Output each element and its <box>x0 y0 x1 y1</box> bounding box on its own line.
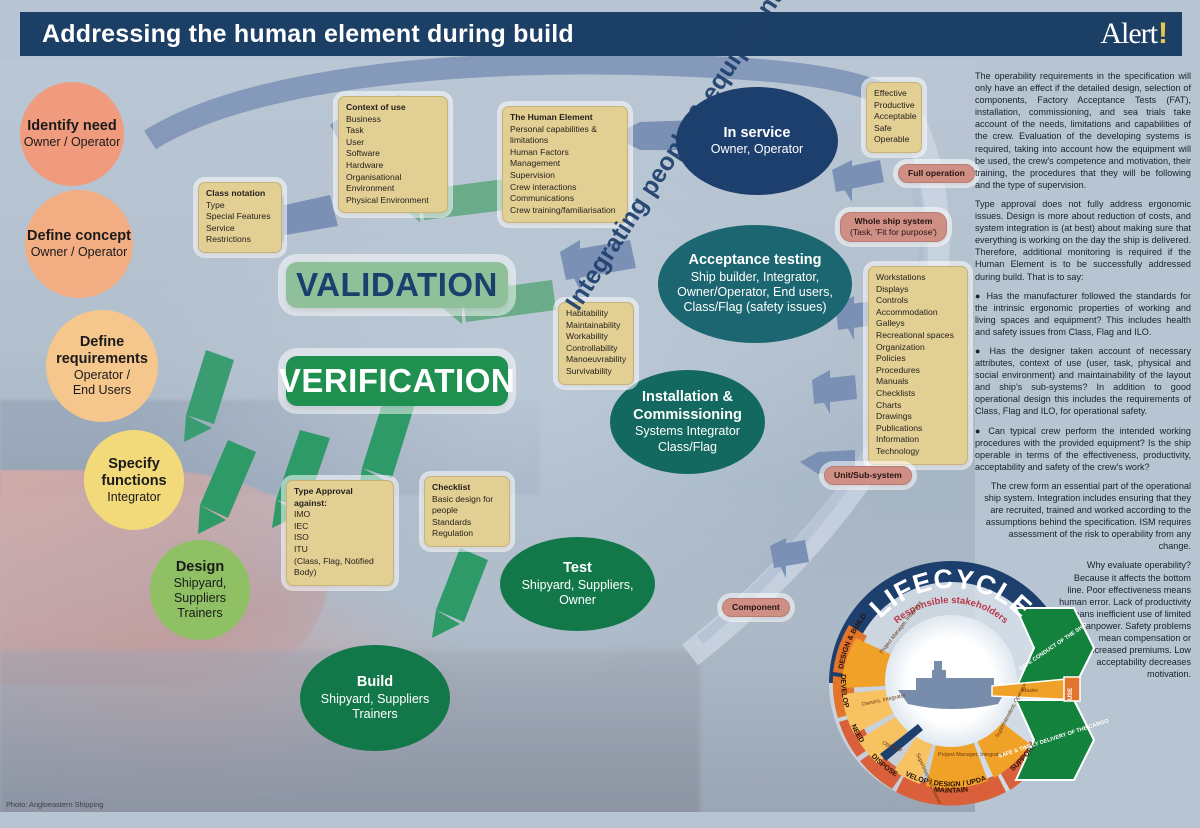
card-item: IEC <box>294 521 308 531</box>
outcome-line-1: Ship builder, Integrator, <box>691 270 820 285</box>
stage-subtitle-line1: Operator / <box>74 368 130 383</box>
card-item: Productive <box>874 100 915 110</box>
paragraph: The crew form an essential part of the o… <box>975 480 1191 553</box>
card-item: Supervision <box>510 170 555 180</box>
stage-specify-functions[interactable]: Specify functions Integrator <box>84 430 184 530</box>
bullet-text: Has the manufacturer followed the standa… <box>975 291 1191 337</box>
bullet-item: ● Has the manufacturer followed the stan… <box>975 290 1191 338</box>
card-item: Maintainability <box>566 320 620 330</box>
pill-label: Whole ship system <box>855 216 933 226</box>
stage-define-requirements[interactable]: Define requirements Operator / End Users <box>46 310 158 422</box>
card-item: Recreational spaces <box>876 330 954 340</box>
bullet-item: ● Has the designer taken account of nece… <box>975 345 1191 418</box>
card-title: The Human Element <box>510 112 620 124</box>
outcome-installation-commissioning[interactable]: Installation & Commissioning Systems Int… <box>610 370 765 474</box>
stage-subtitle-line2: End Users <box>73 383 131 398</box>
outcome-title: In service <box>724 125 791 143</box>
card-ship-inventory: Workstations Displays Controls Accommoda… <box>868 266 968 465</box>
outcome-title-line2: Commissioning <box>633 407 742 425</box>
pill-sublabel: (Task, 'Fit for purpose') <box>850 227 937 238</box>
outcome-acceptance-testing[interactable]: Acceptance testing Ship builder, Integra… <box>658 225 852 343</box>
card-item: Task <box>346 125 364 135</box>
card-item: Regulation <box>432 528 473 538</box>
card-item: (Class, Flag, Notified Body) <box>294 556 374 578</box>
card-class-notation: Class notation Type Special Features Ser… <box>198 182 282 253</box>
card-item: ISO <box>294 532 309 542</box>
stage-title-line2: functions <box>101 473 166 490</box>
card-item: Manuals <box>876 376 908 386</box>
wheel-arrow-label-master: Master <box>1022 688 1039 694</box>
pill-whole-ship-system: Whole ship system (Task, 'Fit for purpos… <box>840 212 947 242</box>
stage-subtitle: Owner / Operator <box>31 245 128 260</box>
infographic-canvas: Addressing the human element during buil… <box>0 0 1200 828</box>
stage-title: Define concept <box>27 228 131 245</box>
card-item: Organisational Environment <box>346 172 401 194</box>
bottom-bar <box>0 812 1200 828</box>
card-item: Human Factors <box>510 147 569 157</box>
page-title: Addressing the human element during buil… <box>42 20 574 49</box>
stage-title-line1: Specify <box>108 456 160 473</box>
card-item: Checklists <box>876 388 915 398</box>
card-item: Manoeuvrability <box>566 354 626 364</box>
arrow-green-7 <box>184 350 234 442</box>
card-item: Software <box>346 148 380 158</box>
outcome-title: Acceptance testing <box>689 252 822 270</box>
outcome-line-1: Systems Integrator <box>635 424 740 439</box>
card-item: Acceptable <box>874 111 917 121</box>
stage-subtitle-line2: Trainers <box>352 707 397 722</box>
card-item: Business <box>346 114 381 124</box>
card-item: Crew interactions <box>510 182 576 192</box>
paragraph: The operability requirements in the spec… <box>975 70 1191 191</box>
arrow-blue-7 <box>812 370 857 414</box>
card-item: Workstations <box>876 272 926 282</box>
bullet-text: Can typical crew perform the intended wo… <box>975 426 1191 472</box>
stage-subtitle-line1: Shipyard, Suppliers <box>150 576 250 606</box>
stage-title: Build <box>357 674 393 692</box>
banner-validation-label: VALIDATION <box>296 266 498 304</box>
card-item: Physical Environment <box>346 195 429 205</box>
card-title: Checklist <box>432 482 502 494</box>
card-item: Service Restrictions <box>206 223 251 245</box>
lifecycle-wheel: LIFECYCLE Responsible stakeholders DESIG… <box>816 548 1086 818</box>
card-operability-goals: Effective Productive Acceptable Safe Ope… <box>866 82 922 153</box>
bullet-text: Has the designer taken account of necess… <box>975 346 1191 416</box>
stage-build[interactable]: Build Shipyard, Suppliers Trainers <box>300 645 450 751</box>
card-checklist: Checklist Basic design for people Standa… <box>424 476 510 547</box>
outcome-subtitle: Owner, Operator <box>711 142 803 157</box>
arrow-green-6 <box>432 548 488 638</box>
arrow-blue-5 <box>832 160 884 202</box>
bullet-item: ● Can typical crew perform the intended … <box>975 425 1191 473</box>
card-item: Drawings <box>876 411 912 421</box>
stage-identify-need[interactable]: Identify need Owner / Operator <box>20 82 124 186</box>
card-item: ITU <box>294 544 308 554</box>
card-item: Organization <box>876 342 925 352</box>
card-item: Hardware <box>346 160 383 170</box>
card-title: Class notation <box>206 188 274 200</box>
stage-subtitle-line2: Trainers <box>177 606 222 621</box>
pill-component: Component <box>722 598 790 617</box>
card-the-human-element: The Human Element Personal capabilities … <box>502 106 628 223</box>
stage-subtitle-line1: Shipyard, Suppliers <box>321 692 429 707</box>
card-item: IMO <box>294 509 310 519</box>
stage-subtitle: Owner / Operator <box>24 135 121 150</box>
card-item: Survivability <box>566 366 612 376</box>
card-title: Type Approval against: <box>294 486 386 509</box>
pill-label: Full operation <box>908 168 965 178</box>
stage-define-concept[interactable]: Define concept Owner / Operator <box>25 190 133 298</box>
pill-label: Component <box>732 602 780 612</box>
pill-unit-sub-system: Unit/Sub-system <box>824 466 912 485</box>
outcome-line-2: Owner/Operator, End users, <box>677 285 833 300</box>
card-item: Charts <box>876 400 901 410</box>
card-item: Operable <box>874 134 909 144</box>
outcome-title-line1: Installation & <box>642 389 733 407</box>
page-header: Addressing the human element during buil… <box>20 12 1182 56</box>
card-title: Context of use <box>346 102 440 114</box>
paragraph: Type approval does not fully address erg… <box>975 198 1191 283</box>
card-item: Publications <box>876 423 922 433</box>
card-item: Controllability <box>566 343 618 353</box>
card-item: Policies <box>876 353 906 363</box>
photo-credit: Photo: Angloeastern Shipping <box>6 800 103 809</box>
card-item: Displays <box>876 284 908 294</box>
outcome-test[interactable]: Test Shipyard, Suppliers, Owner <box>500 537 655 631</box>
card-quality-attributes: Habitability Maintainability Workability… <box>558 302 634 385</box>
pill-full-operation: Full operation <box>898 164 975 183</box>
card-item: Communications <box>510 193 574 203</box>
card-item: Standards <box>432 517 471 527</box>
logo-exclamation-icon: ! <box>1158 17 1168 51</box>
stage-title: Define requirements <box>46 334 158 368</box>
outcome-line-2: Owner <box>559 593 596 608</box>
card-item: Crew training/familiarisation <box>510 205 616 215</box>
card-item: Management <box>510 158 560 168</box>
card-item: Personal capabilities & limitations <box>510 124 597 146</box>
outcome-title: Test <box>563 560 592 578</box>
wheel-arrow-label-use: USE <box>1068 688 1074 700</box>
card-item: Accommodation <box>876 307 938 317</box>
card-item: Basic design for people <box>432 494 493 516</box>
outcome-line-2: Class/Flag <box>658 440 717 455</box>
arrow-green-5 <box>198 440 256 534</box>
stage-design[interactable]: Design Shipyard, Suppliers Trainers <box>150 540 250 640</box>
card-item: Safe <box>874 123 892 133</box>
banner-verification-label: VERIFICATION <box>279 362 515 400</box>
card-item: Effective <box>874 88 907 98</box>
pill-label: Unit/Sub-system <box>834 470 902 480</box>
card-item: Workability <box>566 331 608 341</box>
outcome-line-1: Shipyard, Suppliers, <box>522 578 634 593</box>
card-item: Type <box>206 200 225 210</box>
card-context-of-use: Context of use Business Task User Softwa… <box>338 96 448 213</box>
banner-validation: VALIDATION <box>286 262 508 308</box>
card-item: Information Technology <box>876 434 919 456</box>
stage-title: Design <box>176 559 224 576</box>
logo-wordmark: Alert <box>1100 17 1157 51</box>
stage-subtitle: Integrator <box>107 490 161 505</box>
stage-title: Identify need <box>27 118 116 135</box>
alert-logo: Alert ! <box>1100 17 1168 51</box>
wheel-inner-label-4: Project Manager, Integrator <box>938 752 1004 758</box>
banner-verification: VERIFICATION <box>286 356 508 406</box>
card-item: Special Features <box>206 211 271 221</box>
card-item: User <box>346 137 364 147</box>
card-item: Controls <box>876 295 908 305</box>
card-type-approval: Type Approval against: IMO IEC ISO ITU (… <box>286 480 394 586</box>
card-item: Galleys <box>876 318 905 328</box>
card-item: Procedures <box>876 365 920 375</box>
outcome-line-3: Class/Flag (safety issues) <box>683 300 826 315</box>
